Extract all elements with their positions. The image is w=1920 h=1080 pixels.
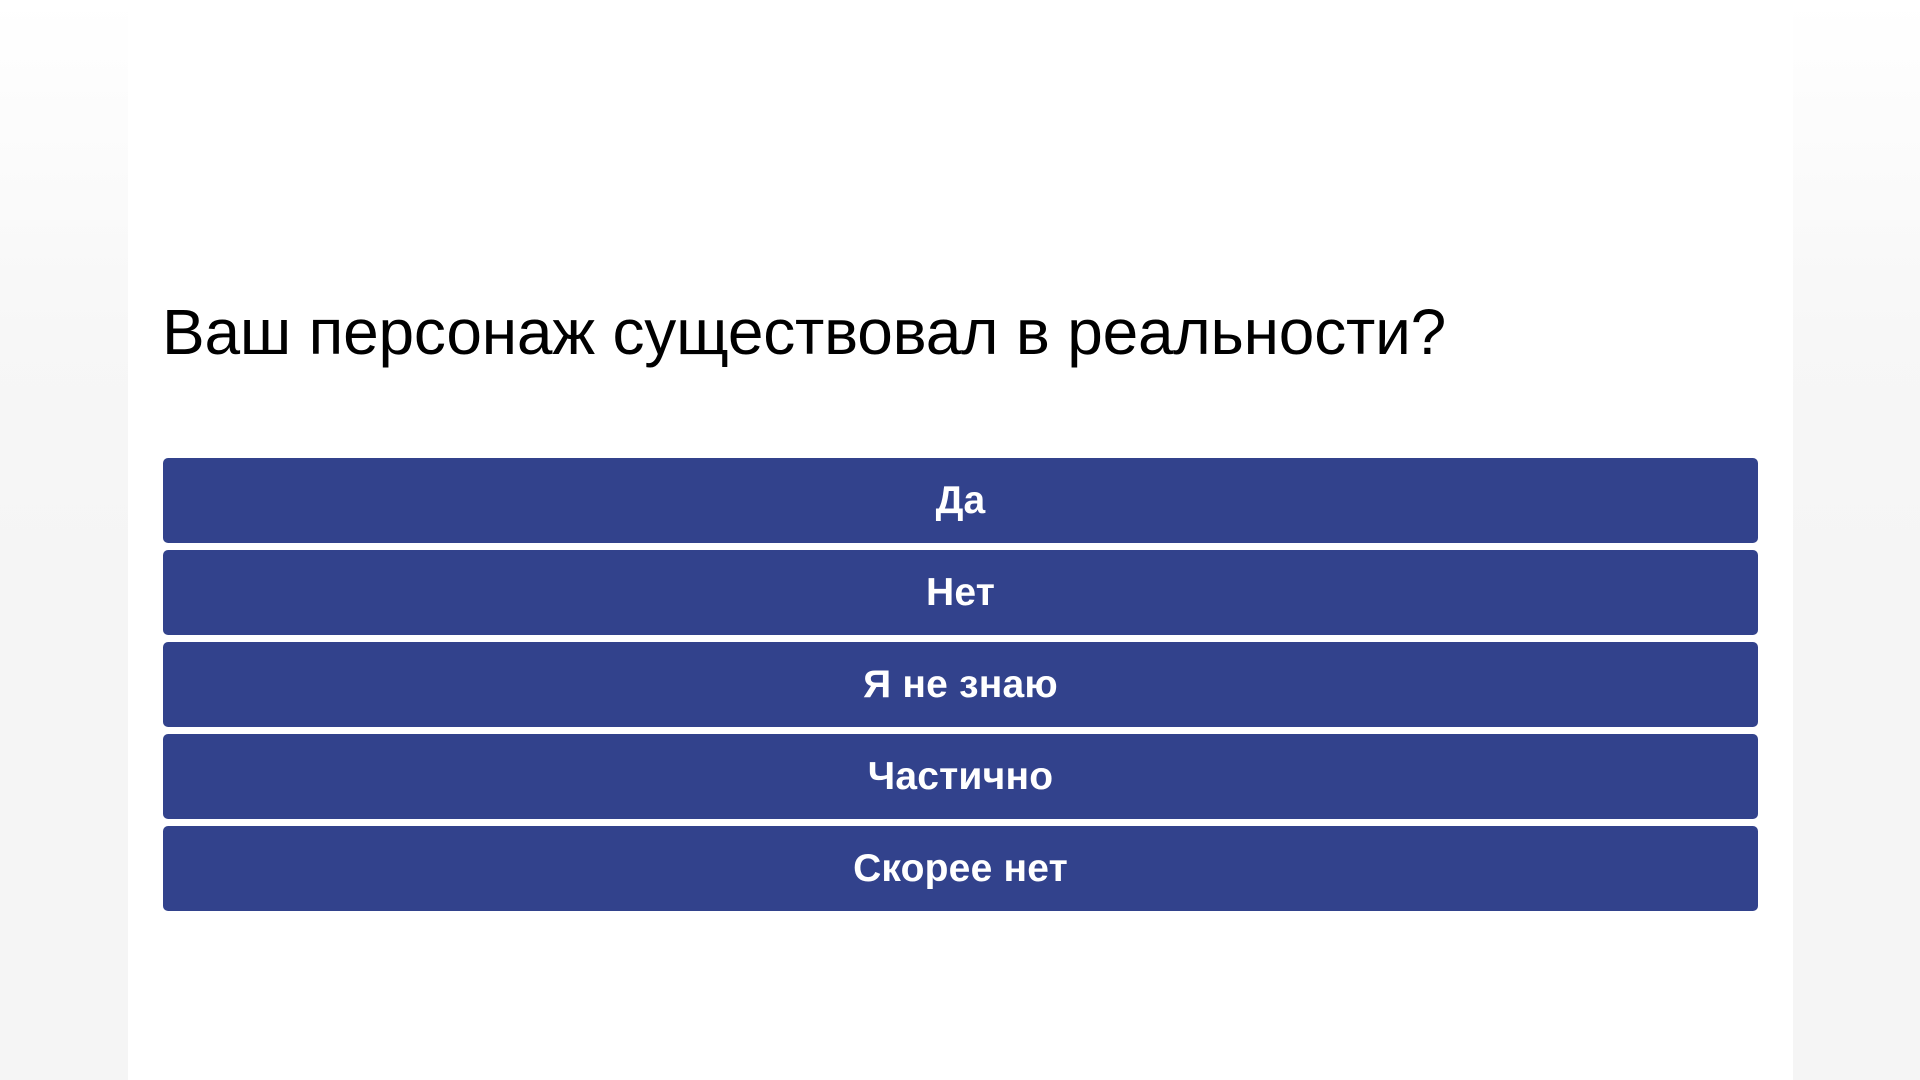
answer-option-2[interactable]: Нет	[163, 550, 1758, 635]
answer-option-1[interactable]: Да	[163, 458, 1758, 543]
answer-option-3[interactable]: Я не знаю	[163, 642, 1758, 727]
answer-option-5-label: Скорее нет	[853, 849, 1068, 888]
answer-option-5[interactable]: Скорее нет	[163, 826, 1758, 911]
answer-option-4[interactable]: Частично	[163, 734, 1758, 819]
slide-page: Ваш персонаж существовал в реальности? Д…	[0, 0, 1920, 1080]
answer-option-3-label: Я не знаю	[863, 665, 1058, 704]
right-gutter	[1793, 0, 1920, 1080]
answer-option-1-label: Да	[936, 481, 986, 520]
answer-option-2-label: Нет	[926, 573, 995, 612]
answer-option-4-label: Частично	[868, 757, 1053, 796]
answer-options-list: Да Нет Я не знаю Частично Скорее нет	[163, 458, 1758, 911]
slide-canvas: Ваш персонаж существовал в реальности? Д…	[128, 0, 1793, 1080]
left-gutter	[0, 0, 128, 1080]
question-title: Ваш персонаж существовал в реальности?	[162, 300, 1762, 364]
